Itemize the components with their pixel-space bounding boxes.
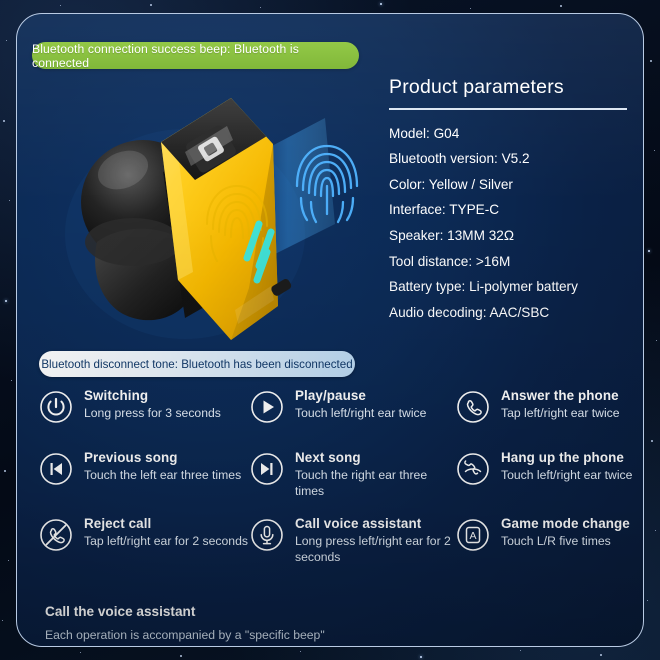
parameters-title: Product parameters (389, 76, 639, 108)
skip-next-icon (250, 452, 284, 486)
feature-desc: Touch the left ear three times (84, 468, 241, 484)
microphone-icon (250, 518, 284, 552)
feature-desc: Touch L/R five times (501, 534, 630, 550)
footer-title: Call the voice assistant (45, 604, 325, 619)
feature-title: Previous song (84, 449, 241, 466)
feature-switching: Switching Long press for 3 seconds (39, 386, 250, 448)
main-panel: Bluetooth connection success beep: Bluet… (16, 13, 644, 647)
feature-desc: Long press left/right ear for 2 seconds (295, 534, 456, 565)
feature-desc: Touch left/right ear twice (295, 406, 426, 422)
feature-title: Hang up the phone (501, 449, 632, 466)
param-model: Model: G04 (389, 121, 639, 147)
param-audio-decoding: Audio decoding: AAC/SBC (389, 300, 639, 326)
feature-hang-up-phone: Hang up the phone Touch left/right ear t… (456, 448, 644, 514)
feature-answer-phone: Answer the phone Tap left/right ear twic… (456, 386, 644, 448)
param-bluetooth-version: Bluetooth version: V5.2 (389, 146, 639, 172)
feature-title: Switching (84, 387, 221, 404)
feature-title: Reject call (84, 515, 248, 532)
feature-desc: Touch the right ear three times (295, 468, 456, 499)
param-speaker: Speaker: 13MM 32Ω (389, 223, 639, 249)
param-interface: Interface: TYPE-C (389, 197, 639, 223)
infographic-stage: Bluetooth connection success beep: Bluet… (0, 0, 660, 660)
bluetooth-disconnected-banner: Bluetooth disconnect tone: Bluetooth has… (39, 351, 355, 377)
feature-desc: Tap left/right ear twice (501, 406, 620, 422)
feature-title: Call voice assistant (295, 515, 456, 532)
phone-reject-icon (39, 518, 73, 552)
title-divider (389, 108, 627, 110)
feature-title: Game mode change (501, 515, 630, 532)
skip-previous-icon (39, 452, 73, 486)
feature-next-song: Next song Touch the right ear three time… (250, 448, 456, 514)
param-battery-type: Battery type: Li-polymer battery (389, 274, 639, 300)
phone-answer-icon (456, 390, 490, 424)
feature-row-3: Reject call Tap left/right ear for 2 sec… (39, 514, 644, 580)
feature-grid: Switching Long press for 3 seconds Play/… (39, 386, 644, 580)
feature-desc: Tap left/right ear for 2 seconds (84, 534, 248, 550)
feature-row-2: Previous song Touch the left ear three t… (39, 448, 644, 514)
feature-row-1: Switching Long press for 3 seconds Play/… (39, 386, 644, 448)
param-tool-distance: Tool distance: >16M (389, 249, 639, 275)
feature-voice-assistant: Call voice assistant Long press left/rig… (250, 514, 456, 580)
feature-play-pause: Play/pause Touch left/right ear twice (250, 386, 456, 448)
svg-text:A: A (469, 530, 476, 542)
feature-previous-song: Previous song Touch the left ear three t… (39, 448, 250, 514)
feature-reject-call: Reject call Tap left/right ear for 2 sec… (39, 514, 250, 580)
game-mode-icon: A (456, 518, 490, 552)
phone-hangup-icon (456, 452, 490, 486)
feature-title: Answer the phone (501, 387, 620, 404)
feature-title: Next song (295, 449, 456, 466)
feature-game-mode: A Game mode change Touch L/R five times (456, 514, 644, 580)
power-icon (39, 390, 73, 424)
param-color: Color: Yellow / Silver (389, 172, 639, 198)
footer-subtitle: Each operation is accompanied by a "spec… (45, 628, 325, 642)
feature-title: Play/pause (295, 387, 426, 404)
parameters-list: Model: G04 Bluetooth version: V5.2 Color… (389, 121, 639, 326)
product-image (35, 74, 380, 359)
bluetooth-connected-banner: Bluetooth connection success beep: Bluet… (32, 42, 359, 69)
product-parameters-section: Product parameters Model: G04 Bluetooth … (389, 76, 639, 325)
feature-desc: Touch left/right ear twice (501, 468, 632, 484)
play-pause-icon (250, 390, 284, 424)
feature-desc: Long press for 3 seconds (84, 406, 221, 422)
footer-section: Call the voice assistant Each operation … (45, 604, 325, 642)
